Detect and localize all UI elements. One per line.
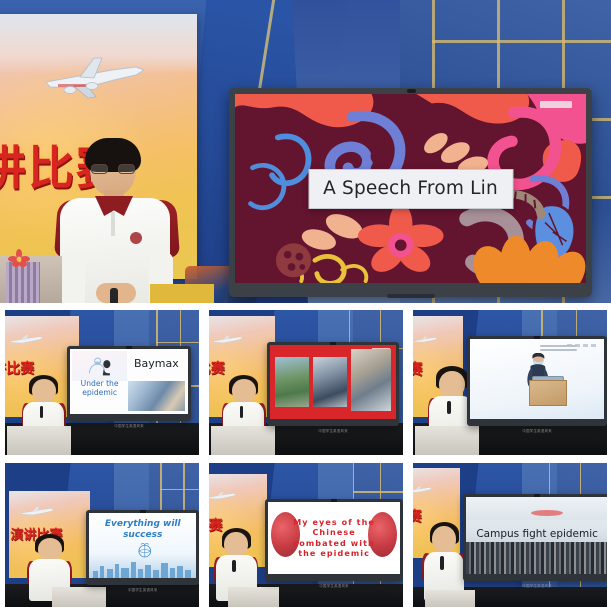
airplane-icon	[212, 332, 244, 348]
speaker-head	[439, 371, 465, 398]
airplane-icon	[413, 483, 433, 497]
hospital-photo	[128, 381, 185, 411]
wall-trim	[432, 40, 611, 43]
smartboard-display[interactable]: 中国学生英语风采	[267, 342, 399, 426]
podium	[228, 587, 278, 607]
smartboard-display[interactable]: Everything will success	[86, 510, 199, 585]
airplane-icon	[20, 505, 56, 519]
thumb-everything-will-success[interactable]: 演讲比赛 Everything will success	[5, 463, 199, 608]
banner-chinese-text: 比赛	[413, 506, 429, 526]
speaker-head	[232, 379, 256, 403]
speaker-head	[432, 526, 456, 553]
main-photo[interactable]: 讲比赛	[0, 0, 611, 303]
smartboard-display[interactable]: 中国学生英语风采	[467, 336, 607, 426]
thumb-my-eyes-of-the-chinese[interactable]: 比赛 My eyes of the Chinese combated with …	[209, 463, 403, 608]
wall-trim	[353, 491, 403, 493]
speaker-placket	[111, 212, 115, 236]
speaker-head	[32, 379, 56, 403]
thumb-delivery-box[interactable]: 赛	[413, 310, 607, 455]
slide-red-photos	[270, 345, 396, 419]
slide-title: A Speech From Lin	[323, 178, 498, 199]
wall-trim	[156, 342, 199, 344]
slide-screen: Baymax Under the epidemic	[70, 349, 188, 414]
slide-title: Baymax	[128, 357, 185, 370]
airplane-icon	[9, 332, 45, 348]
banner-chinese-text: 比赛	[209, 358, 238, 378]
thumbnail-grid: 讲比赛	[0, 307, 611, 611]
display-stand	[387, 294, 435, 298]
thumb-campus-fight-epidemic[interactable]: 比赛 Campus fight epidemic	[413, 463, 607, 608]
camera-icon	[407, 89, 416, 93]
photo-collage: 讲比赛	[0, 0, 611, 611]
speaker-head	[224, 532, 248, 557]
slide-screen: My eyes of the Chinese combated with the…	[268, 502, 400, 574]
watermark: 中国学生英语风采	[522, 428, 552, 433]
podium	[7, 426, 71, 455]
watermark: 中国学生英语风采	[318, 428, 348, 433]
airplane-icon	[209, 489, 238, 504]
podium	[52, 587, 106, 607]
airplane-icon	[40, 54, 150, 102]
microphone-icon	[447, 401, 451, 415]
slide-subtitle: Under the epidemic	[75, 380, 125, 397]
podium	[211, 426, 275, 455]
podium	[415, 426, 479, 455]
nurse-icon	[84, 356, 114, 376]
slide-screen: Everything will success	[89, 513, 196, 578]
wall-trim	[160, 489, 199, 491]
slide-photo	[275, 357, 309, 407]
smartboard-display[interactable]: A Speech From Lin	[229, 88, 592, 297]
city-skyline	[89, 554, 196, 579]
desk-surface	[150, 284, 214, 303]
microphone-icon	[110, 288, 118, 303]
slide-title: My eyes of the Chinese combated with the…	[288, 518, 380, 560]
slide-title: Everything will success	[96, 519, 190, 541]
hall-ceiling	[466, 497, 607, 520]
crowd-photo	[466, 542, 607, 574]
smartboard-display[interactable]: Baymax Under the epidemic 中国学生英语风采	[67, 346, 191, 421]
slide-photo	[313, 357, 347, 407]
watermark: 中国学生英语风采	[128, 587, 158, 592]
slide-my-eyes-of-the-chinese: My eyes of the Chinese combated with the…	[268, 502, 400, 574]
microphone-icon	[232, 560, 236, 572]
speaker-figure	[52, 140, 182, 303]
slide-baymax: Baymax Under the epidemic	[70, 349, 188, 414]
slide-everything-will-success: Everything will success	[89, 513, 196, 578]
podium	[425, 590, 475, 607]
watermark: 中国学生英语风采	[522, 583, 552, 588]
thumb-baymax[interactable]: 讲比赛	[5, 310, 199, 455]
slide-screen: Campus fight epidemic	[466, 497, 607, 574]
microphone-icon	[440, 556, 444, 570]
slide-delivery-box	[470, 339, 604, 419]
speaker-arm	[61, 252, 85, 303]
nurse-illustration	[72, 351, 126, 381]
banner-chinese-text: 讲比赛	[5, 358, 38, 378]
slide-watermark	[540, 101, 572, 108]
flower-icon	[8, 248, 30, 268]
microphone-icon	[40, 406, 44, 418]
glasses-icon	[91, 164, 135, 174]
smartboard-display[interactable]: My eyes of the Chinese combated with the…	[265, 499, 403, 581]
speaker-head	[38, 538, 62, 561]
slide-campus-fight-epidemic: Campus fight epidemic	[466, 497, 607, 574]
smartboard-display[interactable]: Campus fight epidemic 中国学生英语风采	[463, 494, 607, 581]
slide-screen	[470, 339, 604, 419]
school-crest-icon	[130, 232, 142, 244]
slide-screen: A Speech From Lin	[235, 94, 586, 283]
slide-caption-lines	[540, 345, 577, 352]
slide-title-box: A Speech From Lin	[308, 169, 513, 209]
watermark: 中国学生英语风采	[114, 423, 144, 428]
slide-screen	[270, 345, 396, 419]
slide-title: Campus fight epidemic	[469, 528, 605, 540]
microphone-icon	[240, 406, 244, 418]
slide-photo	[351, 349, 391, 411]
watermark: 中国学生英语风采	[319, 583, 349, 588]
airplane-icon	[413, 332, 439, 348]
thumb-red-photos[interactable]: 比赛	[209, 310, 403, 455]
cardboard-box-icon	[529, 380, 566, 405]
podium-decor	[6, 262, 40, 303]
